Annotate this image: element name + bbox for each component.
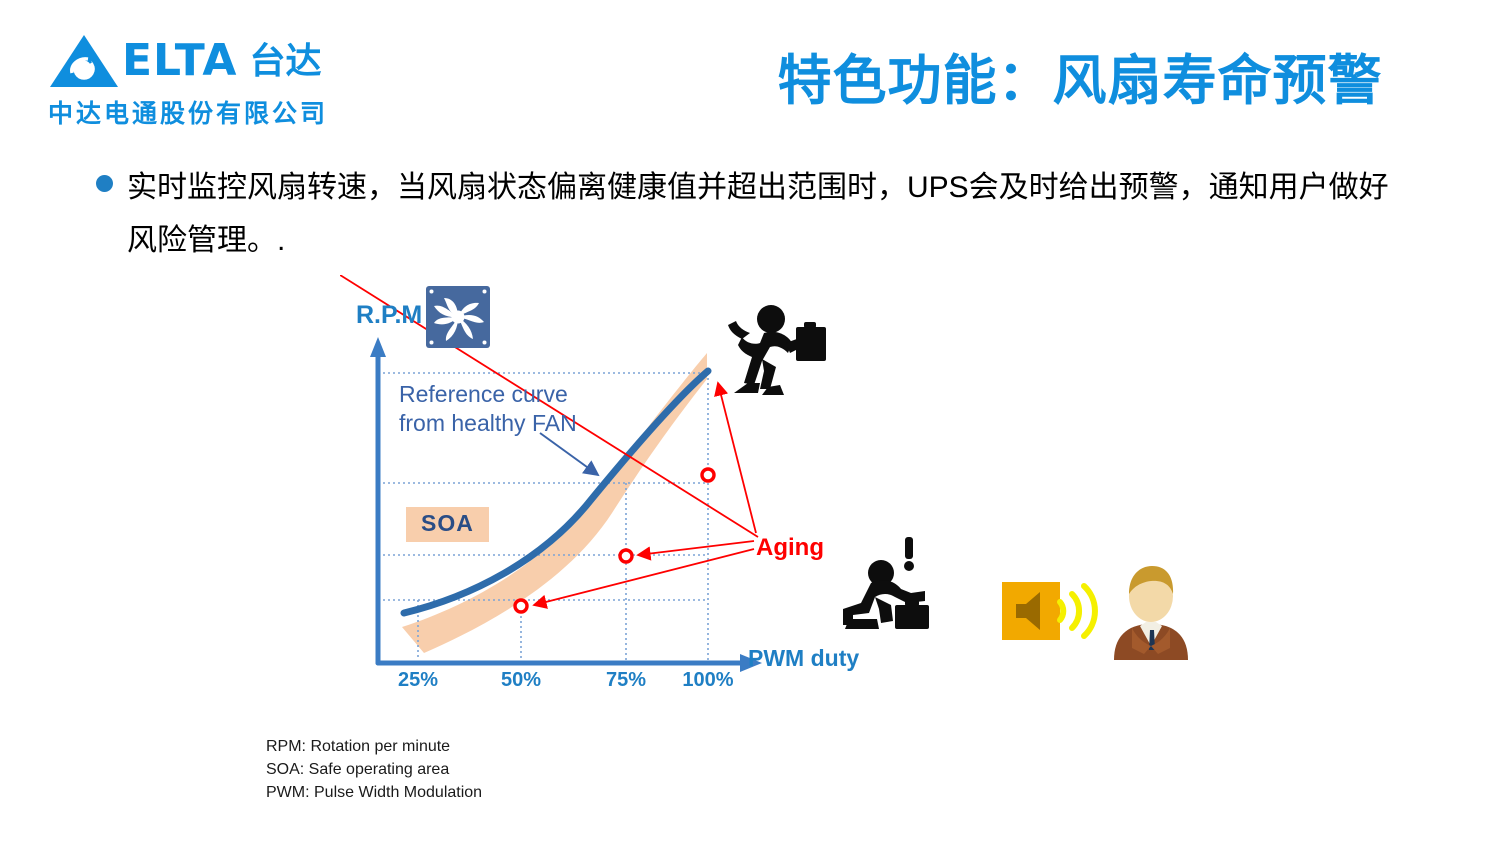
footnote-soa: SOA: Safe operating area [266, 758, 482, 781]
footnote-rpm: RPM: Rotation per minute [266, 735, 482, 758]
bullet-dot-icon [96, 175, 113, 192]
footnote-list: RPM: Rotation per minute SOA: Safe opera… [266, 735, 482, 805]
logo-wordmark: ELTA [122, 33, 237, 89]
reference-curve-line2: from healthy FAN [399, 409, 577, 438]
reference-curve-leader [540, 433, 598, 475]
reference-curve-line1: Reference curve [399, 380, 577, 409]
aging-point-75 [620, 550, 632, 562]
aging-label: Aging [756, 534, 824, 562]
reference-curve-annotation: Reference curve from healthy FAN [399, 380, 577, 438]
soa-label: SOA [406, 507, 489, 542]
xtick-label-25: 25% [398, 669, 438, 692]
aging-point-100 [702, 469, 714, 481]
fan-icon [426, 286, 490, 348]
aging-point-50 [515, 600, 527, 612]
brand-logo: ELTA 台达 中达电通股份有限公司 [48, 32, 348, 128]
xtick-label-50: 50% [501, 669, 541, 692]
kneeling-worker-alert-icon [835, 533, 937, 633]
running-businessman-icon [718, 297, 830, 397]
y-axis-arrow-icon [370, 337, 386, 357]
bullet-paragraph: 实时监控风扇转速，当风扇状态偏离健康值并超出范围时，UPS会及时给出预警，通知用… [96, 162, 1416, 267]
user-avatar-icon [1106, 562, 1196, 660]
bullet-text: 实时监控风扇转速，当风扇状态偏离健康值并超出范围时，UPS会及时给出预警，通知用… [127, 162, 1416, 267]
y-axis-label: R.P.M [356, 301, 422, 330]
alert-speaker-icon [1002, 578, 1110, 648]
logo-company-name: 中达电通股份有限公司 [48, 94, 348, 130]
logo-cn-mark: 台达 [249, 33, 321, 89]
footnote-pwm: PWM: Pulse Width Modulation [266, 781, 482, 804]
logo-mark-row: ELTA 台达 [48, 32, 348, 90]
xtick-label-100: 100% [682, 669, 733, 692]
delta-triangle-icon [48, 33, 120, 89]
xtick-label-75: 75% [606, 669, 646, 692]
x-axis-label: PWM duty [748, 645, 859, 672]
page-title: 特色功能：风扇寿命预警 [700, 36, 1460, 115]
